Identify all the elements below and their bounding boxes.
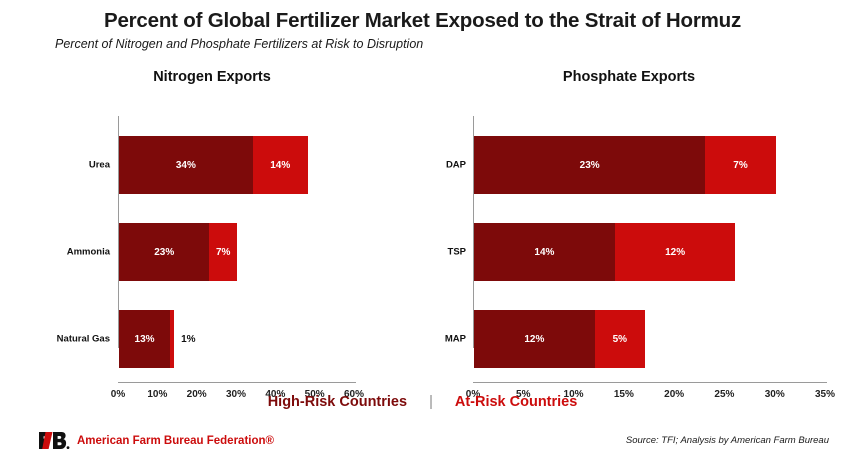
- page-subtitle: Percent of Nitrogen and Phosphate Fertil…: [0, 37, 845, 51]
- bar-segment-dap-at-risk-countries: 7%: [705, 136, 775, 194]
- bar-value-label: 5%: [613, 334, 627, 345]
- category-label-natural-gas: Natural Gas: [12, 334, 110, 345]
- bar-value-label: 23%: [154, 247, 174, 258]
- chart-footer: American Farm Bureau Federation® Source:…: [0, 428, 845, 457]
- bar-row-urea: 34%14%: [119, 136, 355, 194]
- chart-panel-nitrogen: Nitrogen Exports Urea34%14%Ammonia23%7%N…: [12, 66, 412, 378]
- bar-value-label: 7%: [733, 160, 747, 171]
- bar-value-label: 12%: [665, 247, 685, 258]
- bar-segment-ammonia-at-risk-countries: 7%: [209, 223, 237, 281]
- brand-lockup: American Farm Bureau Federation®: [36, 431, 274, 450]
- bar-segment-tsp-at-risk-countries: 12%: [615, 223, 736, 281]
- bar-segment-urea-high-risk-countries: 34%: [119, 136, 253, 194]
- panel-title-phosphate: Phosphate Exports: [424, 66, 834, 88]
- bar-segment-map-high-risk-countries: 12%: [474, 310, 595, 368]
- category-label-tsp: TSP: [424, 247, 466, 258]
- bar-row-tsp: 14%12%: [474, 223, 826, 281]
- bar-segment-natural-gas-at-risk-countries: [170, 310, 174, 368]
- bar-segment-map-at-risk-countries: 5%: [595, 310, 645, 368]
- legend-item-high-risk: High-Risk Countries: [268, 394, 407, 410]
- bar-value-label: 34%: [176, 160, 196, 171]
- bar-row-dap: 23%7%: [474, 136, 826, 194]
- bar-segment-natural-gas-high-risk-countries: 13%: [119, 310, 170, 368]
- bar-value-label: 13%: [135, 334, 155, 345]
- bar-row-map: 12%5%: [474, 310, 826, 368]
- bar-value-label: 23%: [580, 160, 600, 171]
- plot-area-phosphate: DAP23%7%TSP14%12%MAP12%5%0%5%10%15%20%25…: [424, 88, 834, 378]
- bar-segment-urea-at-risk-countries: 14%: [253, 136, 308, 194]
- brand-name: American Farm Bureau Federation®: [77, 435, 274, 447]
- legend-item-at-risk: At-Risk Countries: [455, 394, 577, 410]
- bar-row-ammonia: 23%7%: [119, 223, 355, 281]
- chart-header: Percent of Global Fertilizer Market Expo…: [0, 0, 845, 51]
- plot-area-nitrogen: Urea34%14%Ammonia23%7%Natural Gas13%1%0%…: [12, 88, 412, 378]
- bar-value-label-outside: 1%: [174, 310, 195, 368]
- category-label-map: MAP: [424, 334, 466, 345]
- panel-title-nitrogen: Nitrogen Exports: [12, 66, 412, 88]
- category-label-dap: DAP: [424, 160, 466, 171]
- bar-segment-tsp-high-risk-countries: 14%: [474, 223, 615, 281]
- chart-panel-phosphate: Phosphate Exports DAP23%7%TSP14%12%MAP12…: [424, 66, 834, 378]
- bar-row-natural-gas: 13%1%: [119, 310, 355, 368]
- legend-separator: |: [407, 394, 455, 410]
- bar-value-label: 14%: [270, 160, 290, 171]
- bar-value-label: 7%: [216, 247, 230, 258]
- bar-segment-ammonia-high-risk-countries: 23%: [119, 223, 209, 281]
- source-note: Source: TFI; Analysis by American Farm B…: [626, 435, 829, 446]
- category-label-urea: Urea: [12, 160, 110, 171]
- page-title: Percent of Global Fertilizer Market Expo…: [0, 9, 845, 33]
- afbf-fb-monogram-icon: [36, 431, 70, 450]
- bar-value-label: 12%: [524, 334, 544, 345]
- category-label-ammonia: Ammonia: [12, 247, 110, 258]
- x-axis-line: [118, 382, 356, 383]
- chart-legend: High-Risk Countries|At-Risk Countries: [0, 393, 845, 411]
- bar-segment-dap-high-risk-countries: 23%: [474, 136, 705, 194]
- x-axis-line: [473, 382, 827, 383]
- bar-value-label: 14%: [534, 247, 554, 258]
